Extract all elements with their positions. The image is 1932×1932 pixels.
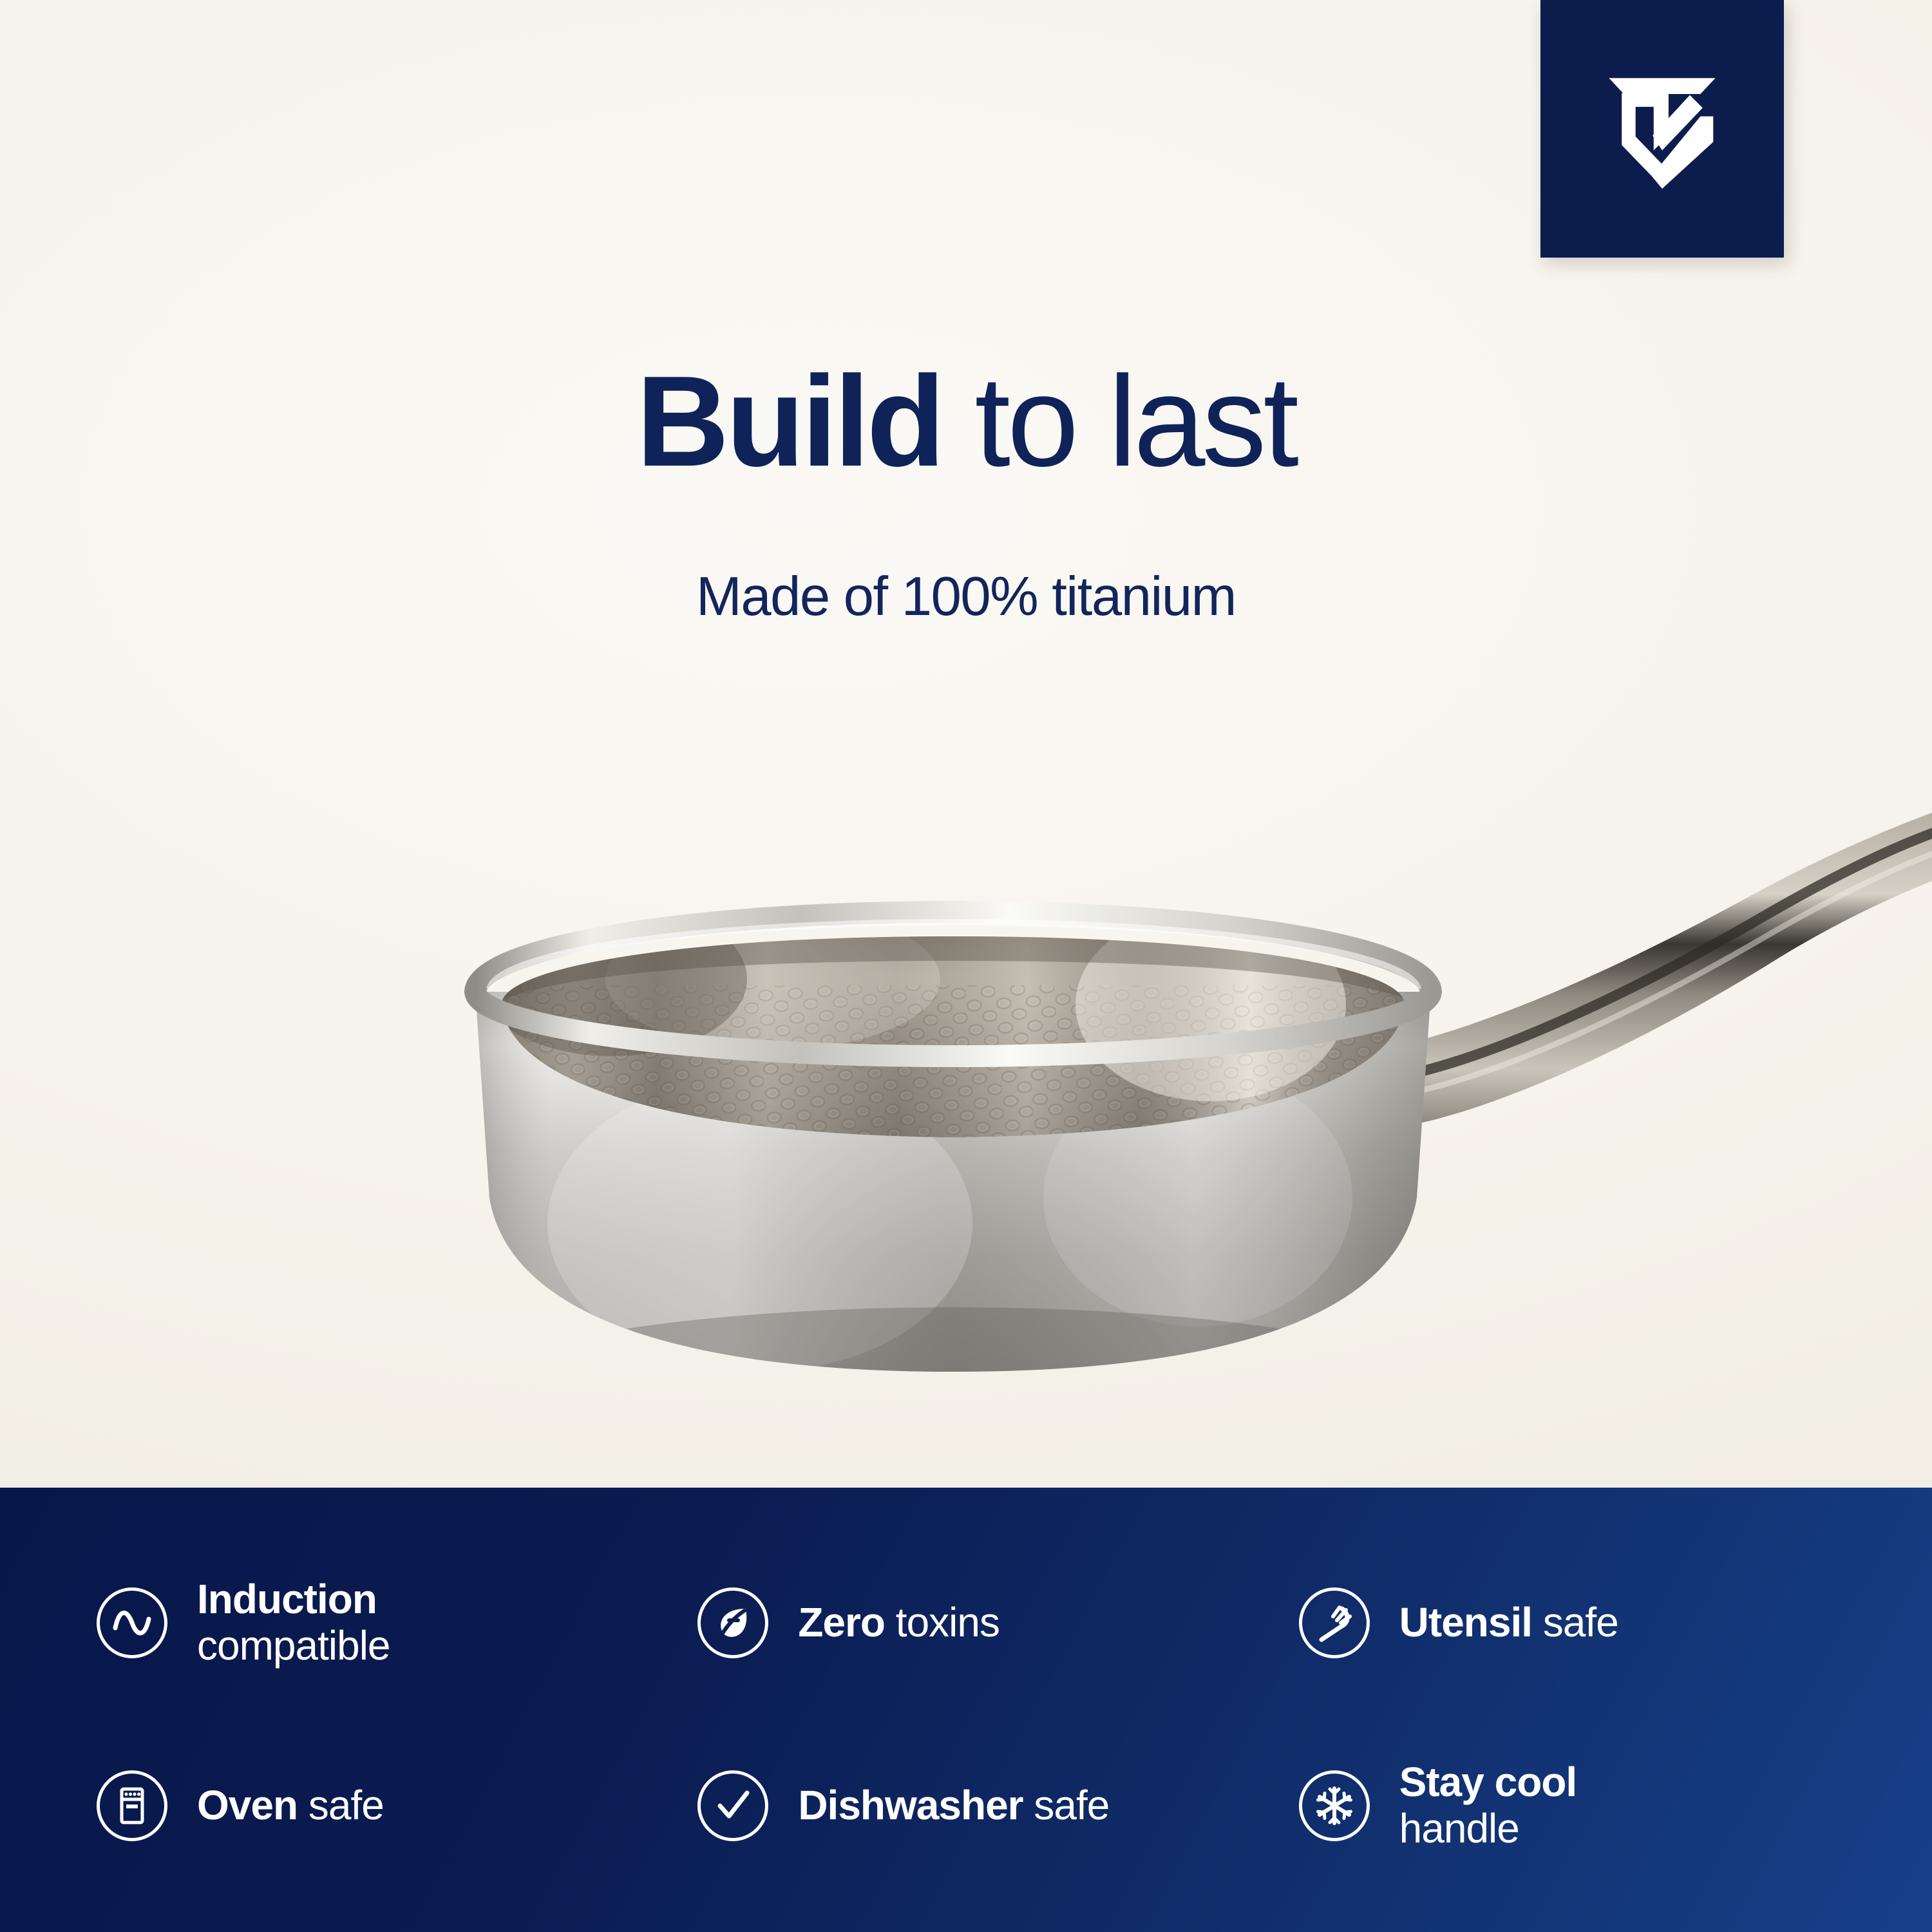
- induction-wave-icon: [97, 1587, 167, 1658]
- feature-label: Oven safe: [197, 1783, 384, 1829]
- subtitle: Made of 100% titanium: [0, 567, 1932, 627]
- feature-strong: Oven: [197, 1782, 298, 1828]
- feature-oven-safe: Oven safe: [97, 1717, 672, 1895]
- oven-stove-icon: [97, 1770, 167, 1841]
- feature-label: Dishwasher safe: [798, 1783, 1109, 1829]
- feature-induction: Inductioncompatible: [97, 1534, 672, 1712]
- feature-strong: Dishwasher: [798, 1782, 1023, 1828]
- feature-label: Utensil safe: [1399, 1600, 1618, 1646]
- feature-label: Inductioncompatible: [197, 1577, 390, 1669]
- feature-strong: Stay cool: [1399, 1759, 1577, 1805]
- feature-rest: toxins: [885, 1599, 999, 1645]
- product-image: [0, 773, 1932, 1488]
- shield-tv-monogram-icon: [1598, 70, 1727, 189]
- feature-zero-toxins: Zero toxins: [697, 1534, 1273, 1712]
- snowflake-icon: [1299, 1770, 1370, 1841]
- feature-strong: Utensil: [1399, 1599, 1532, 1645]
- checkmark-icon: [697, 1770, 768, 1841]
- feature-rest: safe: [1532, 1599, 1618, 1645]
- leaf-icon: [697, 1587, 768, 1658]
- brand-logo-tile: [1540, 0, 1784, 258]
- hero-section: Build to last Made of 100% titanium: [0, 0, 1932, 1488]
- feature-rest: safe: [298, 1782, 384, 1828]
- feature-grid: Inductioncompatible Zero toxins: [97, 1534, 1874, 1895]
- feature-rest: handle: [1399, 1805, 1519, 1851]
- feature-band: Inductioncompatible Zero toxins: [0, 1488, 1932, 1932]
- feature-strong: Zero: [798, 1599, 885, 1645]
- feature-rest: compatible: [197, 1622, 390, 1669]
- headline-strong: Build: [636, 350, 942, 493]
- feature-label: Stay coolhandle: [1399, 1759, 1577, 1851]
- feature-label: Zero toxins: [798, 1600, 999, 1646]
- feature-rest: safe: [1023, 1782, 1110, 1828]
- fork-icon: [1299, 1587, 1370, 1658]
- headline-rest: to last: [942, 350, 1296, 493]
- frying-pan-illustration: [0, 773, 1932, 1488]
- page-title: Build to last: [0, 357, 1932, 486]
- feature-strong: Induction: [197, 1576, 377, 1622]
- feature-stay-cool-handle: Stay coolhandle: [1299, 1717, 1874, 1895]
- feature-dishwasher-safe: Dishwasher safe: [697, 1717, 1273, 1895]
- feature-utensil-safe: Utensil safe: [1299, 1534, 1874, 1712]
